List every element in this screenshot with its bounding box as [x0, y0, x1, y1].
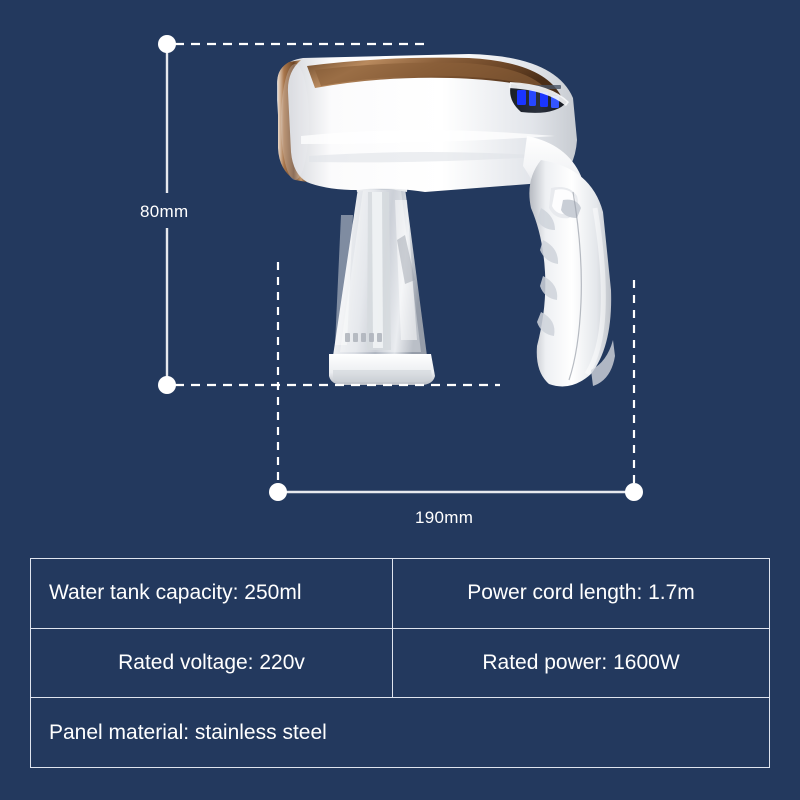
- width-marker-left: [269, 483, 287, 501]
- spec-power-cord-length: Power cord length: 1.7m: [393, 559, 769, 628]
- spec-rated-voltage: Rated voltage: 220v: [31, 629, 393, 698]
- height-marker-bottom: [158, 376, 176, 394]
- table-row: Panel material: stainless steel: [31, 698, 769, 767]
- spec-panel-material: Panel material: stainless steel: [31, 698, 769, 767]
- width-marker-right: [625, 483, 643, 501]
- product-illustration: [255, 40, 665, 400]
- table-row: Rated voltage: 220v Rated power: 1600W: [31, 629, 769, 699]
- height-marker-top: [158, 35, 176, 53]
- specification-table: Water tank capacity: 250ml Power cord le…: [30, 558, 770, 768]
- spec-rated-power: Rated power: 1600W: [393, 629, 769, 698]
- height-dimension-label: 80mm: [140, 202, 188, 222]
- spec-water-tank-capacity: Water tank capacity: 250ml: [31, 559, 393, 628]
- width-dimension-label: 190mm: [415, 508, 473, 528]
- water-tank: [329, 177, 435, 385]
- product-spec-image: 80mm 190mm Water tank capacity: 250ml Po…: [0, 0, 800, 800]
- table-row: Water tank capacity: 250ml Power cord le…: [31, 559, 769, 629]
- handle: [529, 160, 615, 386]
